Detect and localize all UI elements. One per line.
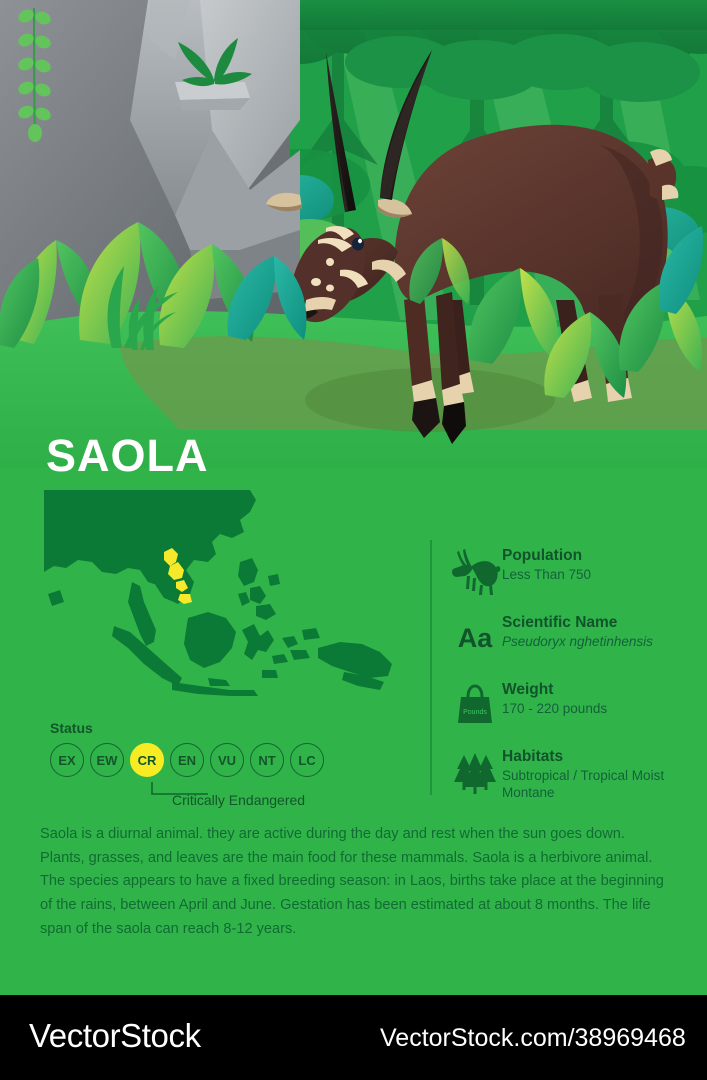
vectorstock-url: VectorStock.com/38969468 xyxy=(380,1024,686,1053)
illustration-scene xyxy=(0,0,707,475)
aa-glyph: Aa xyxy=(458,625,493,652)
fact-value-population: Less Than 750 xyxy=(502,566,591,584)
pine-trees-icon xyxy=(448,747,502,797)
fact-value-weight-real: 170 - 220 pounds xyxy=(502,700,607,718)
aa-letters-icon: Aa xyxy=(448,613,502,663)
vectorstock-logo: VectorStock xyxy=(29,1017,201,1055)
fact-weight: Pounds Weight 170 - 220 pounds xyxy=(448,680,693,730)
facts-list: Population Less Than 750 Aa Scientific N… xyxy=(448,546,693,819)
info-panel: SAOLA xyxy=(0,468,707,995)
antelope-icon xyxy=(448,546,502,596)
fact-label-scientific-name: Scientific Name xyxy=(502,614,653,632)
status-caption: Critically Endangered xyxy=(172,792,305,808)
fact-scientific-name: Aa Scientific Name Pseudoryx nghetinhens… xyxy=(448,613,693,663)
status-badge-row: EX EW CR EN VU NT LC xyxy=(50,743,380,777)
status-badge-lc[interactable]: LC xyxy=(290,743,324,777)
svg-text:Pounds: Pounds xyxy=(463,709,487,716)
status-badge-cr[interactable]: CR xyxy=(130,743,164,777)
column-divider xyxy=(430,540,432,795)
fact-population: Population Less Than 750 xyxy=(448,546,693,596)
fact-value-scientific-name: Pseudoryx nghetinhensis xyxy=(502,633,653,651)
fact-label-habitats: Habitats xyxy=(502,748,693,766)
description-paragraph: Saola is a diurnal animal. they are acti… xyxy=(40,823,672,941)
poster-root: SAOLA xyxy=(0,0,707,1080)
status-badge-nt[interactable]: NT xyxy=(250,743,284,777)
status-caption-group: Critically Endangered xyxy=(50,780,380,814)
status-badge-vu[interactable]: VU xyxy=(210,743,244,777)
status-label: Status xyxy=(50,720,380,736)
status-badge-ex[interactable]: EX xyxy=(50,743,84,777)
fact-habitats: Habitats Subtropical / Tropical Moist Mo… xyxy=(448,747,693,802)
page-title: SAOLA xyxy=(46,433,209,478)
watermark-bar: VectorStock VectorStock.com/38969468 xyxy=(0,995,707,1080)
status-badge-ew[interactable]: EW xyxy=(90,743,124,777)
fact-value-habitats: Subtropical / Tropical Moist Montane xyxy=(502,767,693,802)
conservation-status-block: Status EX EW CR EN VU NT LC Critically E… xyxy=(50,720,380,814)
distribution-map xyxy=(44,490,434,705)
status-badge-en[interactable]: EN xyxy=(170,743,204,777)
weight-bag-icon: Pounds xyxy=(448,680,502,730)
fact-label-population: Population xyxy=(502,547,591,565)
fact-label-weight: Weight xyxy=(502,681,607,699)
